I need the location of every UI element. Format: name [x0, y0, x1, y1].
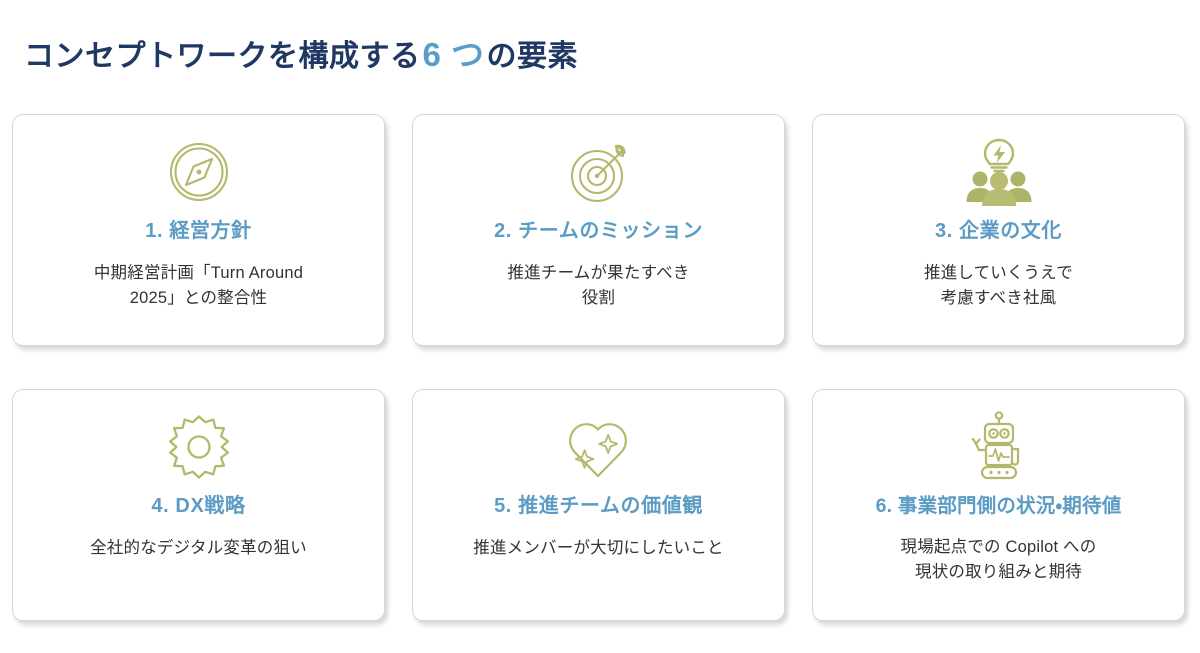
concept-card-5[interactable]: 5. 推進チームの価値観 推進メンバーが大切にしたいこと [412, 389, 785, 621]
card-body: 推進していくうえで 考慮すべき社風 [924, 261, 1073, 311]
page-title-prefix: コンセプトワークを構成する [24, 40, 421, 73]
concept-card-4[interactable]: 4. DX戦略 全社的なデジタル変革の狙い [12, 389, 385, 621]
robot-icon [961, 406, 1037, 488]
card-body: 全社的なデジタル変革の狙い [90, 536, 307, 561]
page-title-accent: 6 つ [421, 36, 487, 73]
concept-card-2[interactable]: 2. チームのミッション 推進チームが果たすべき 役割 [412, 114, 785, 346]
card-body: 推進チームが果たすべき 役割 [507, 261, 689, 311]
card-body: 推進メンバーが大切にしたいこと [473, 536, 724, 561]
concept-card-6[interactable]: 6. 事業部門側の状況・期待値 現場起点での Copilot への 現状の取り組… [812, 389, 1185, 621]
gear-icon [163, 406, 235, 488]
card-body: 中期経営計画「Turn Around 2025」との整合性 [94, 261, 303, 311]
compass-icon [163, 131, 235, 213]
people-lightbulb-icon [961, 131, 1037, 213]
card-title: 1. 経営方針 [145, 219, 251, 244]
concept-card-3[interactable]: 3. 企業の文化 推進していくうえで 考慮すべき社風 [812, 114, 1185, 346]
page-title-suffix: の要素 [487, 40, 579, 73]
page-title: コンセプトワークを構成する6 つの要素 [24, 34, 578, 77]
card-title: 2. チームのミッション [494, 219, 703, 244]
card-title: 4. DX戦略 [151, 494, 245, 519]
card-title: 6. 事業部門側の状況・期待値 [876, 494, 1122, 518]
target-arrow-icon [563, 131, 635, 213]
card-body: 現場起点での Copilot への 現状の取り組みと期待 [901, 535, 1097, 585]
slide-canvas: コンセプトワークを構成する6 つの要素 1. 経営方針 中期経営計画「Turn … [0, 0, 1200, 653]
heart-sparkle-icon [561, 406, 637, 488]
card-title: 5. 推進チームの価値観 [494, 494, 703, 519]
card-title: 3. 企業の文化 [935, 219, 1062, 244]
concept-card-grid: 1. 経営方針 中期経営計画「Turn Around 2025」との整合性 2.… [12, 114, 1188, 621]
concept-card-1[interactable]: 1. 経営方針 中期経営計画「Turn Around 2025」との整合性 [12, 114, 385, 346]
